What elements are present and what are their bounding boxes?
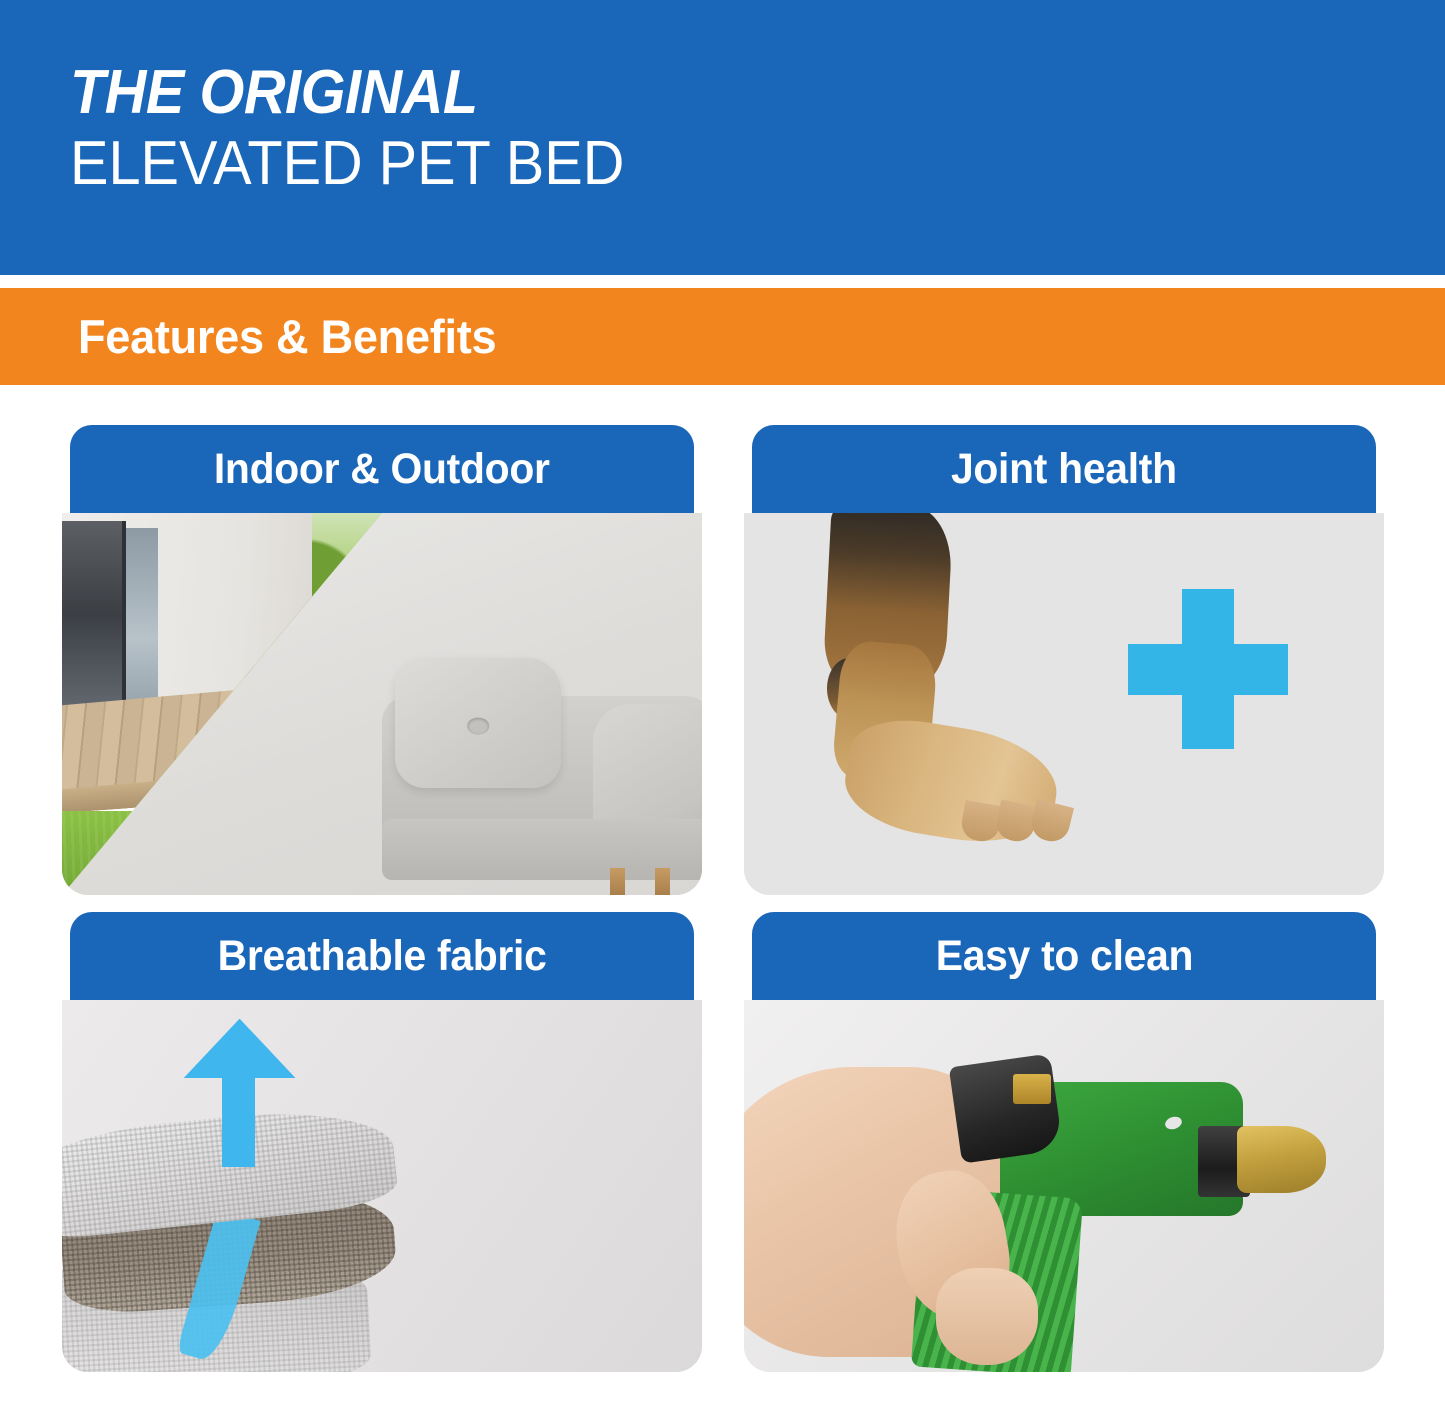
- feature-card-indoor-outdoor: Indoor & Outdoor: [62, 425, 702, 912]
- feature-card-title: Joint health: [951, 445, 1177, 494]
- airflow-arrow-shaft-icon: [222, 1074, 255, 1167]
- product-title-line1: THE ORIGINAL: [70, 62, 1349, 124]
- feature-card-grid: Indoor & Outdoor: [62, 425, 1384, 1390]
- patio-door: [62, 521, 126, 727]
- features-banner-label: Features & Benefits: [78, 309, 496, 364]
- door-glass: [126, 528, 158, 711]
- split-scene: [62, 513, 702, 895]
- feature-card-title: Indoor & Outdoor: [214, 445, 550, 494]
- feature-card-easy-to-clean: Easy to clean: [744, 912, 1384, 1390]
- feature-card-header: Indoor & Outdoor: [70, 425, 694, 513]
- dog-toe: [1028, 799, 1074, 845]
- cushion-button: [467, 717, 489, 734]
- features-banner: Features & Benefits: [0, 288, 1445, 385]
- header-band: THE ORIGINAL ELEVATED PET BED: [0, 0, 1445, 275]
- product-infographic: THE ORIGINAL ELEVATED PET BED Features &…: [0, 0, 1445, 1411]
- brass-nozzle-tip: [1237, 1126, 1327, 1193]
- airflow-arrow-head-icon: [184, 1019, 296, 1079]
- easy-to-clean-image: [744, 1000, 1384, 1372]
- hose-nozzle-scene: [744, 1000, 1384, 1372]
- nozzle-trigger: [949, 1053, 1064, 1163]
- medical-cross-icon: [1128, 589, 1288, 749]
- feature-card-header: Joint health: [752, 425, 1376, 513]
- joint-health-image: [744, 513, 1384, 895]
- indoor-outdoor-image: [62, 513, 702, 895]
- feature-card-header: Easy to clean: [752, 912, 1376, 1000]
- feature-card-header: Breathable fabric: [70, 912, 694, 1000]
- dog-leg-scene: [744, 513, 1384, 895]
- feature-card-breathable-fabric: Breathable fabric: [62, 912, 702, 1390]
- brass-screw: [1013, 1074, 1051, 1104]
- feature-card-joint-health: Joint health: [744, 425, 1384, 912]
- sofa-leg-right: [655, 868, 670, 895]
- feature-card-title: Easy to clean: [935, 932, 1192, 981]
- sofa-cushion: [395, 658, 561, 788]
- product-title-line2: ELEVATED PET BED: [70, 124, 1349, 203]
- finger: [936, 1268, 1038, 1365]
- breathable-fabric-image: [62, 1000, 702, 1372]
- nozzle-hang-hole: [1164, 1114, 1184, 1131]
- feature-card-title: Breathable fabric: [218, 932, 547, 981]
- sofa-leg-left: [610, 868, 625, 895]
- fabric-scene: [62, 1000, 702, 1372]
